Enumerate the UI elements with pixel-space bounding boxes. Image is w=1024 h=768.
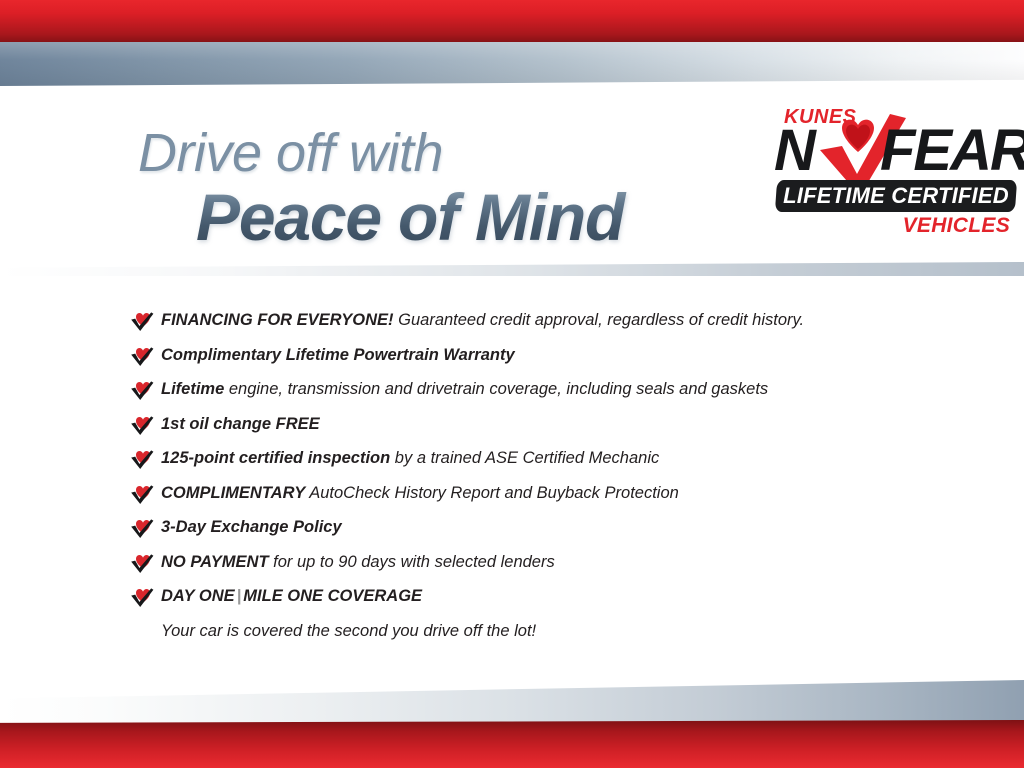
list-item-text: DAY ONE|MILE ONE COVERAGE [161,586,422,607]
list-item: COMPLIMENTARY AutoCheck History Report a… [130,483,990,505]
headline-line-2: Peace of Mind [196,183,738,252]
list-item-bold: FINANCING FOR EVERYONE! [161,311,394,329]
list-item-bold: 3-Day Exchange Policy [161,518,342,536]
list-item: Complimentary Lifetime Powertrain Warran… [130,345,990,367]
list-item: NO PAYMENT for up to 90 days with select… [130,552,990,574]
list-item-text: Complimentary Lifetime Powertrain Warran… [161,345,515,366]
logo-word-fear: FEAR [880,120,1024,182]
list-item: 125-point certified inspection by a trai… [130,448,990,470]
list-item-bold-a: DAY ONE [161,587,235,605]
features-list: FINANCING FOR EVERYONE! Guaranteed credi… [130,310,990,642]
list-item-text: Lifetime engine, transmission and drivet… [161,379,768,400]
top-gray-band [0,42,1024,86]
logo-nofear-wordmark: N FEAR [772,120,1016,182]
kunes-no-fear-logo: KUNES N FEAR LIFETIME CERTIFIED VEHICLES [772,106,1016,248]
list-item-rest: Guaranteed credit approval, regardless o… [394,311,805,329]
list-item: Lifetime engine, transmission and drivet… [130,379,990,401]
list-item-text: 1st oil change FREE [161,414,320,435]
check-heart-bullet-icon [130,380,154,401]
check-heart-bullet-icon [130,518,154,539]
list-item-text: COMPLIMENTARY AutoCheck History Report a… [161,483,679,504]
list-item-bold: Complimentary Lifetime Powertrain Warran… [161,346,515,364]
logo-lifetime-certified-banner: LIFETIME CERTIFIED [775,180,1017,212]
check-heart-bullet-icon [130,553,154,574]
list-item-text: FINANCING FOR EVERYONE! Guaranteed credi… [161,310,804,331]
list-item-rest: AutoCheck History Report and Buyback Pro… [305,484,679,502]
headline-divider [0,262,1024,276]
list-item-bold: Lifetime [161,380,224,398]
bottom-red-band [0,720,1024,768]
top-red-band [0,0,1024,44]
list-item-bold: 125-point certified inspection [161,449,390,467]
list-item: 3-Day Exchange Policy [130,517,990,539]
list-item-bold: COMPLIMENTARY [161,484,305,502]
list-item-text: 3-Day Exchange Policy [161,517,342,538]
check-heart-bullet-icon [130,587,154,608]
list-item-separator: | [235,587,244,605]
list-item-rest: by a trained ASE Certified Mechanic [390,449,659,467]
check-heart-bullet-icon [130,311,154,332]
list-item: FINANCING FOR EVERYONE! Guaranteed credi… [130,310,990,332]
check-heart-bullet-icon [130,415,154,436]
list-item-bold: NO PAYMENT [161,553,269,571]
promo-poster: Drive off with Peace of Mind KUNES N FEA… [0,0,1024,768]
logo-lifetime-certified-text: LIFETIME CERTIFIED [776,180,1016,212]
headline-block: Drive off with Peace of Mind [138,126,738,252]
check-heart-bullet-icon [130,484,154,505]
check-heart-bullet-icon [130,346,154,367]
list-item-bold: 1st oil change FREE [161,415,320,433]
check-heart-bullet-icon [130,449,154,470]
list-item-text: NO PAYMENT for up to 90 days with select… [161,552,555,573]
list-item: DAY ONE|MILE ONE COVERAGE Your car is co… [130,586,990,642]
list-item-rest: for up to 90 days with selected lenders [269,553,555,571]
logo-word-vehicles: VEHICLES [903,214,1010,238]
bottom-gray-band [0,680,1024,722]
list-item-rest: engine, transmission and drivetrain cove… [224,380,768,398]
list-item-text: 125-point certified inspection by a trai… [161,448,659,469]
list-item-bold-b: MILE ONE COVERAGE [243,587,422,605]
headline-line-1: Drive off with [138,126,738,181]
list-item-subtext: Your car is covered the second you drive… [161,621,990,642]
list-item: 1st oil change FREE [130,414,990,436]
logo-letter-n: N [774,120,814,182]
